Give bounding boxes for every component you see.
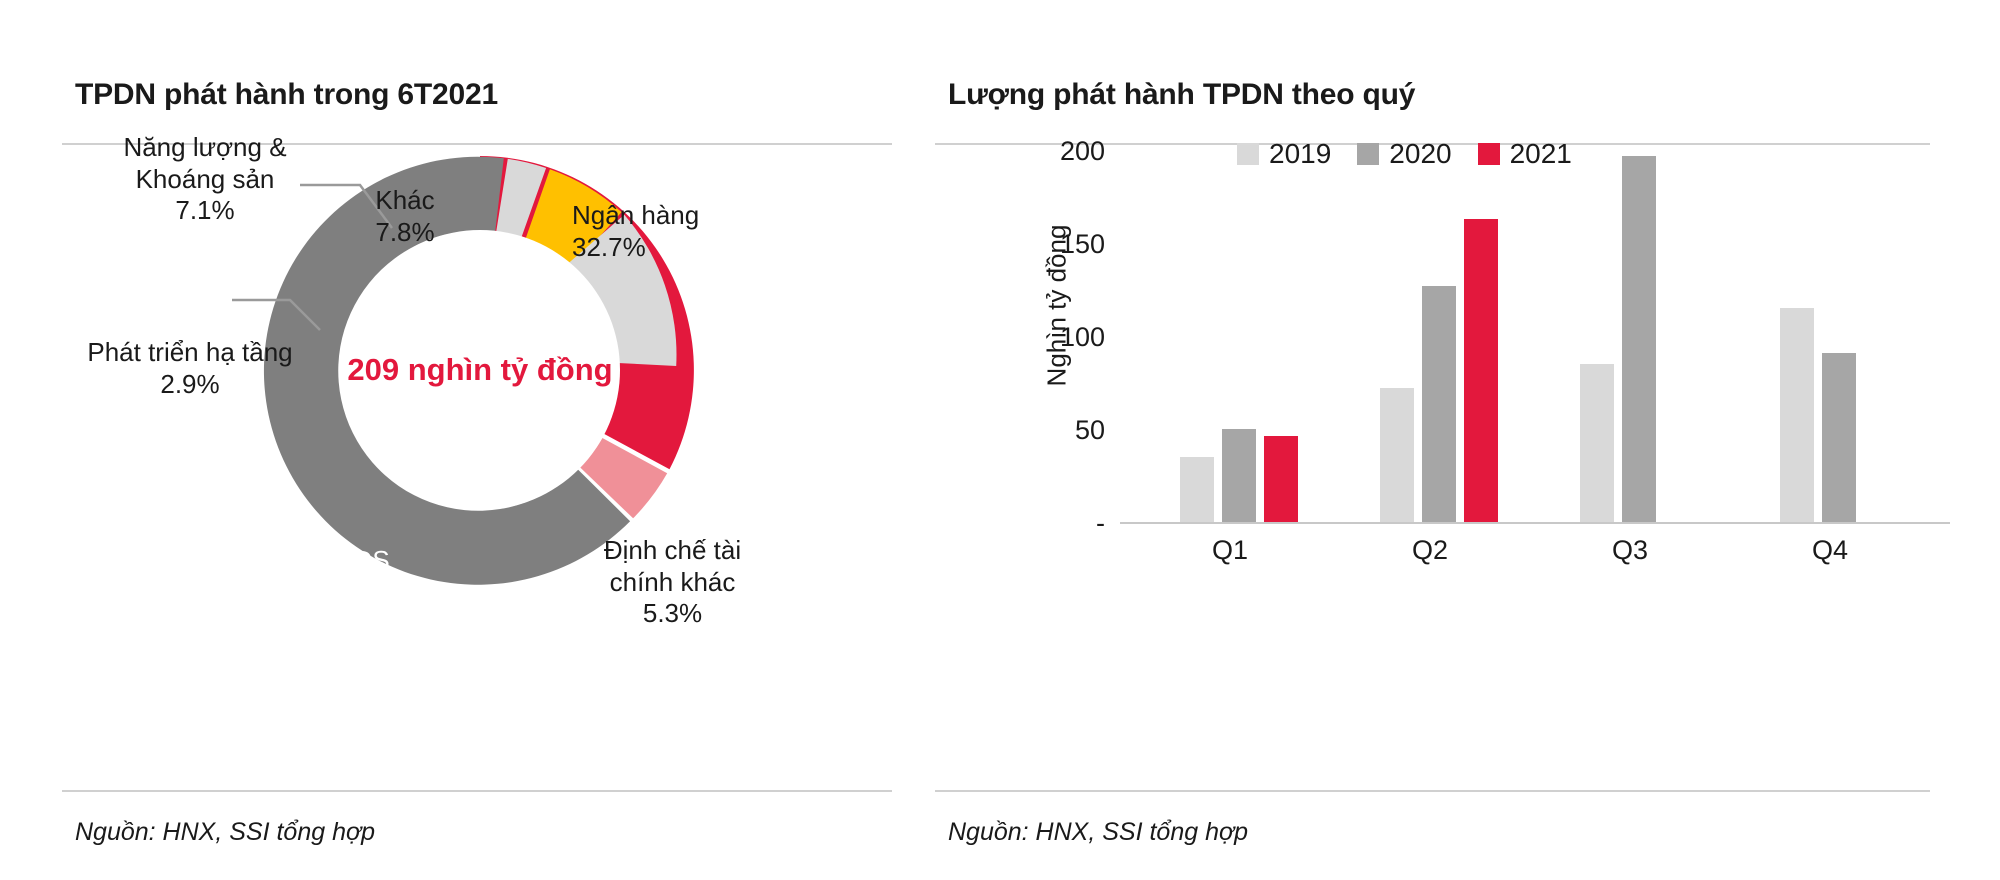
- y-tick-0: -: [1035, 508, 1105, 539]
- donut-label-ngan-hang-line1: Ngân hàng: [572, 200, 802, 232]
- donut-label-khac-pct: 7.8%: [350, 217, 460, 249]
- donut-label-bds: BĐS 44.2%: [288, 545, 438, 608]
- donut-label-ha-tang-line1: Phát triển hạ tầng: [40, 337, 340, 369]
- left-source-note: Nguồn: HNX, SSI tổng hợp: [75, 818, 375, 847]
- donut-label-dinh-che: Định chế tài chính khác 5.3%: [575, 535, 770, 630]
- donut-hole: [340, 230, 620, 510]
- right-chart-panel: Lượng phát hành TPDN theo quý 2019 2020 …: [960, 0, 2000, 880]
- x-tick-q3: Q3: [1570, 535, 1690, 566]
- bar-q2-2020[interactable]: [1422, 286, 1456, 522]
- left-chart-panel: TPDN phát hành trong 6T2021: [0, 0, 960, 880]
- x-axis-line: [1120, 522, 1950, 524]
- x-tick-q4: Q4: [1770, 535, 1890, 566]
- donut-label-dinh-che-line2: chính khác: [575, 567, 770, 599]
- donut-label-nang-luong-pct: 7.1%: [85, 195, 325, 227]
- donut-label-bds-pct: 44.2%: [288, 577, 438, 609]
- donut-label-nang-luong-line1: Năng lượng &: [85, 132, 325, 164]
- y-tick-50: 50: [1035, 415, 1105, 446]
- figure-page: TPDN phát hành trong 6T2021: [0, 0, 2000, 880]
- donut-label-dinh-che-pct: 5.3%: [575, 598, 770, 630]
- bar-q3-2020[interactable]: [1622, 156, 1656, 522]
- donut-label-nang-luong: Năng lượng & Khoáng sản 7.1%: [85, 132, 325, 227]
- bar-q2-2019[interactable]: [1380, 388, 1414, 522]
- bar-q1-2021[interactable]: [1264, 436, 1298, 522]
- right-source-divider: [935, 790, 1930, 792]
- bar-q1-2019[interactable]: [1180, 457, 1214, 522]
- donut-label-dinh-che-line1: Định chế tài: [575, 535, 770, 567]
- donut-label-nang-luong-line2: Khoáng sản: [85, 164, 325, 196]
- bar-group-q4: [1770, 150, 1940, 522]
- bar-q4-2019[interactable]: [1780, 308, 1814, 522]
- x-tick-q2: Q2: [1370, 535, 1490, 566]
- donut-label-bds-line1: BĐS: [288, 545, 438, 577]
- left-source-divider: [62, 790, 892, 792]
- donut-label-khac: Khác 7.8%: [350, 185, 460, 248]
- bar-q1-2020[interactable]: [1222, 429, 1256, 522]
- bar-group-q3: [1570, 150, 1740, 522]
- x-tick-q1: Q1: [1170, 535, 1290, 566]
- donut-label-ha-tang: Phát triển hạ tầng 2.9%: [40, 337, 340, 400]
- donut-label-ngan-hang-pct: 32.7%: [572, 232, 802, 264]
- donut-label-khac-line1: Khác: [350, 185, 460, 217]
- y-tick-200: 200: [1035, 136, 1105, 167]
- bar-plot-area: [1120, 150, 1940, 522]
- y-tick-150: 150: [1035, 229, 1105, 260]
- bar-group-q1: [1170, 150, 1340, 522]
- bar-q3-2019[interactable]: [1580, 364, 1614, 522]
- bar-q2-2021[interactable]: [1464, 219, 1498, 522]
- bar-group-q2: [1370, 150, 1540, 522]
- donut-label-ha-tang-pct: 2.9%: [40, 369, 340, 401]
- right-source-note: Nguồn: HNX, SSI tổng hợp: [948, 818, 1248, 847]
- y-tick-100: 100: [1035, 322, 1105, 353]
- bar-q4-2020[interactable]: [1822, 353, 1856, 522]
- left-chart-title: TPDN phát hành trong 6T2021: [75, 78, 498, 112]
- right-chart-title: Lượng phát hành TPDN theo quý: [948, 78, 1415, 112]
- donut-label-ngan-hang: Ngân hàng 32.7%: [572, 200, 802, 263]
- bar-chart: 2019 2020 2021 Nghìn tỷ đồng 200 150 100…: [975, 120, 1985, 600]
